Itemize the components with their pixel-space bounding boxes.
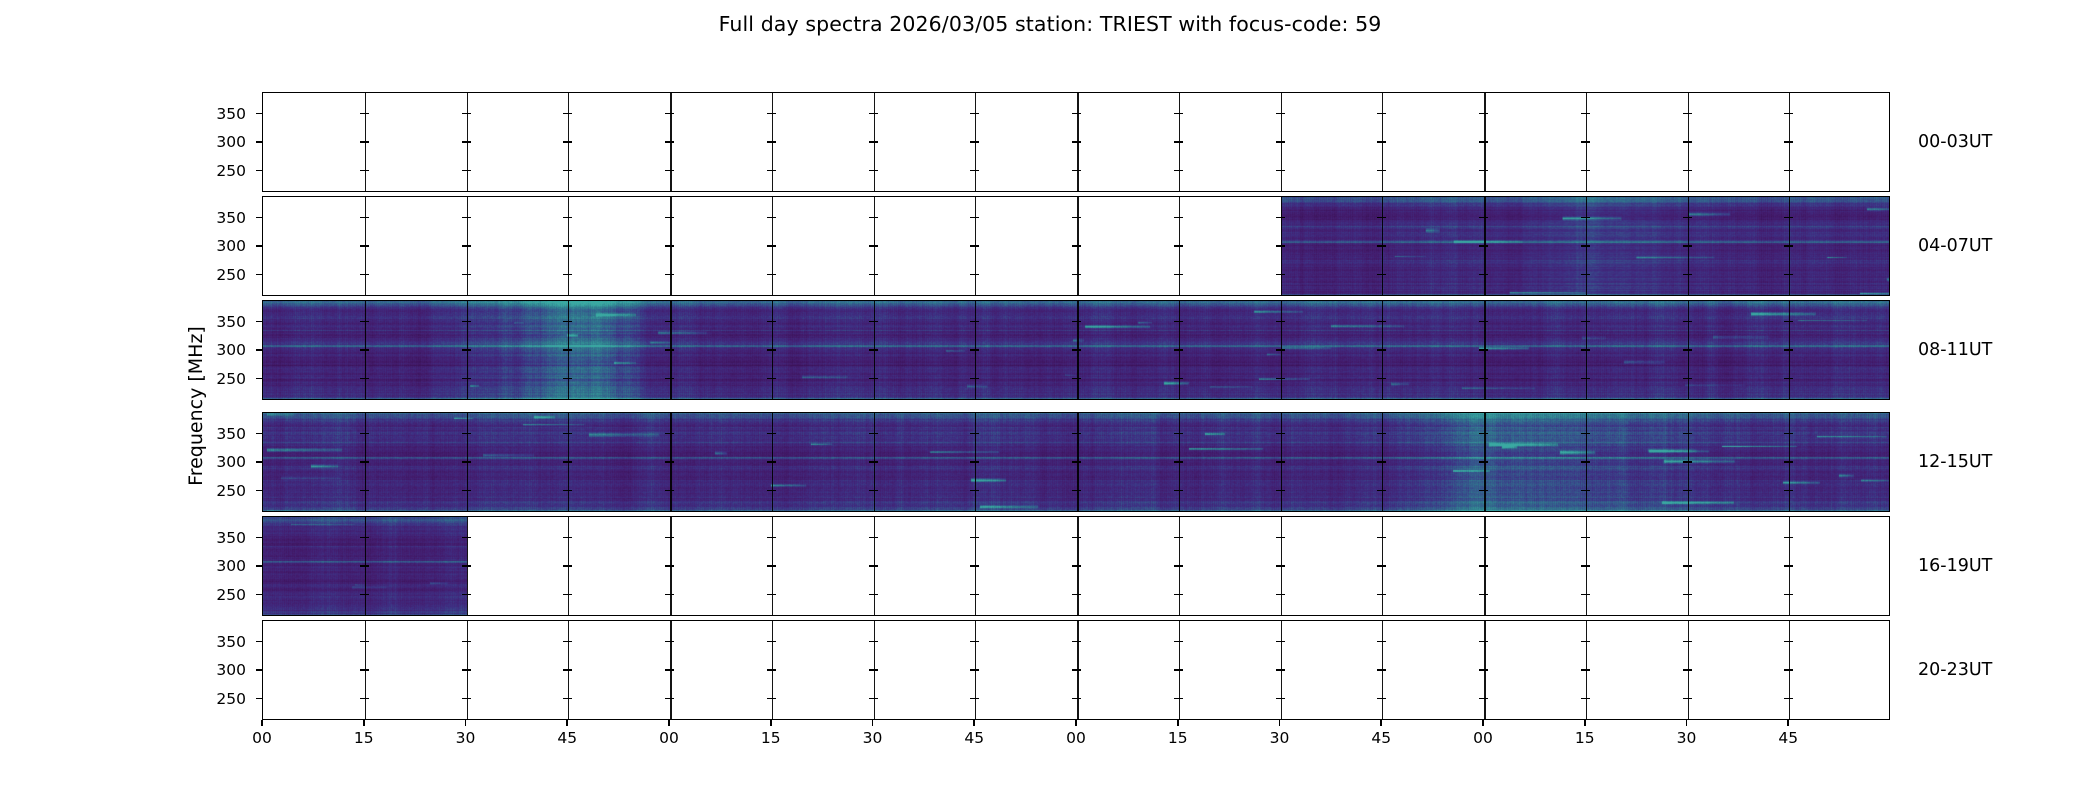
grid-tick-stub (869, 461, 878, 463)
grid-tick-stub (1784, 537, 1793, 539)
grid-tick-stub (1377, 641, 1386, 643)
grid-tick-stub (767, 245, 776, 247)
grid-tick-stub (462, 217, 471, 219)
x-tick-mark (465, 720, 467, 726)
y-tick-label: 300 (194, 557, 246, 575)
y-tick-mark (256, 141, 263, 143)
grid-tick-stub (462, 141, 471, 143)
grid-tick-stub (563, 141, 572, 143)
grid-tick-stub (1276, 490, 1285, 492)
grid-tick-stub (1784, 378, 1793, 380)
grid-tick-stub (1683, 490, 1692, 492)
grid-tick-stub (1683, 349, 1692, 351)
grid-tick-stub (360, 321, 369, 323)
grid-tick-stub (1174, 490, 1183, 492)
grid-tick-stub (1581, 113, 1590, 115)
grid-tick-stub (869, 245, 878, 247)
grid-tick-stub (1581, 537, 1590, 539)
row-label-16-19ut: 16-19UT (1918, 556, 1992, 576)
grid-tick-stub (1479, 490, 1488, 492)
grid-tick-stub (970, 378, 979, 380)
grid-tick-stub (360, 565, 369, 567)
grid-tick-stub (1683, 669, 1692, 671)
grid-tick-stub (1174, 565, 1183, 567)
grid-tick-stub (462, 461, 471, 463)
grid-tick-stub (462, 537, 471, 539)
grid-tick-stub (1072, 669, 1081, 671)
grid-tick-stub (1174, 641, 1183, 643)
grid-tick-stub (767, 669, 776, 671)
y-tick-mark (256, 274, 263, 276)
grid-tick-stub (665, 490, 674, 492)
grid-tick-stub (462, 594, 471, 596)
x-tick-label: 45 (1768, 729, 1808, 747)
grid-tick-stub (665, 245, 674, 247)
x-tick-label: 45 (547, 729, 587, 747)
grid-tick-stub (970, 490, 979, 492)
grid-tick-stub (1072, 170, 1081, 172)
grid-tick-stub (1784, 217, 1793, 219)
grid-tick-stub (462, 433, 471, 435)
grid-tick-stub (563, 641, 572, 643)
x-tick-label: 00 (1056, 729, 1096, 747)
y-tick-label: 350 (194, 633, 246, 651)
grid-tick-stub (665, 274, 674, 276)
grid-tick-stub (1276, 698, 1285, 700)
grid-tick-stub (1581, 141, 1590, 143)
grid-tick-stub (360, 537, 369, 539)
grid-tick-stub (1784, 245, 1793, 247)
grid-tick-stub (1683, 217, 1692, 219)
grid-tick-stub (462, 378, 471, 380)
grid-tick-stub (1683, 641, 1692, 643)
grid-tick-stub (1276, 669, 1285, 671)
grid-tick-stub (1683, 378, 1692, 380)
x-tick-mark (261, 720, 263, 726)
x-tick-mark (1075, 720, 1077, 726)
grid-tick-stub (1479, 378, 1488, 380)
grid-tick-stub (767, 274, 776, 276)
grid-tick-stub (1174, 321, 1183, 323)
grid-tick-stub (462, 349, 471, 351)
grid-tick-stub (1174, 461, 1183, 463)
grid-tick-stub (563, 537, 572, 539)
x-tick-mark (1686, 720, 1688, 726)
grid-tick-stub (665, 113, 674, 115)
grid-tick-stub (1683, 537, 1692, 539)
grid-tick-stub (869, 594, 878, 596)
grid-tick-stub (1174, 537, 1183, 539)
grid-tick-stub (1377, 698, 1386, 700)
grid-tick-stub (767, 349, 776, 351)
grid-tick-stub (1377, 461, 1386, 463)
x-tick-mark (973, 720, 975, 726)
grid-tick-stub (563, 565, 572, 567)
grid-tick-stub (1174, 433, 1183, 435)
grid-tick-stub (1784, 433, 1793, 435)
grid-tick-stub (767, 378, 776, 380)
grid-tick-stub (1276, 274, 1285, 276)
grid-tick-stub (360, 594, 369, 596)
grid-tick-stub (1581, 461, 1590, 463)
grid-tick-stub (1784, 321, 1793, 323)
grid-tick-stub (1784, 461, 1793, 463)
grid-tick-stub (1581, 490, 1590, 492)
grid-tick-stub (1683, 141, 1692, 143)
grid-tick-stub (970, 141, 979, 143)
grid-tick-stub (1072, 321, 1081, 323)
grid-tick-stub (1276, 217, 1285, 219)
grid-tick-stub (1581, 217, 1590, 219)
grid-tick-stub (970, 594, 979, 596)
x-tick-label: 15 (1565, 729, 1605, 747)
grid-tick-stub (1377, 490, 1386, 492)
grid-tick-stub (1377, 433, 1386, 435)
grid-tick-stub (563, 669, 572, 671)
grid-tick-stub (1377, 669, 1386, 671)
grid-tick-stub (665, 349, 674, 351)
grid-tick-stub (869, 141, 878, 143)
grid-tick-stub (1174, 217, 1183, 219)
grid-tick-stub (1174, 698, 1183, 700)
grid-tick-stub (462, 170, 471, 172)
grid-tick-stub (1072, 245, 1081, 247)
x-tick-label: 45 (1361, 729, 1401, 747)
grid-tick-stub (563, 274, 572, 276)
grid-tick-stub (462, 113, 471, 115)
y-tick-label: 350 (194, 425, 246, 443)
grid-tick-stub (970, 698, 979, 700)
x-tick-mark (668, 720, 670, 726)
grid-tick-stub (1479, 245, 1488, 247)
grid-tick-stub (360, 170, 369, 172)
grid-tick-stub (1377, 349, 1386, 351)
grid-tick-stub (1581, 669, 1590, 671)
x-tick-label: 30 (1260, 729, 1300, 747)
grid-tick-stub (1072, 217, 1081, 219)
grid-tick-stub (563, 321, 572, 323)
y-tick-label: 300 (194, 341, 246, 359)
grid-tick-stub (1377, 141, 1386, 143)
grid-tick-stub (563, 594, 572, 596)
grid-tick-stub (1072, 565, 1081, 567)
grid-tick-stub (1479, 141, 1488, 143)
grid-tick-stub (665, 641, 674, 643)
y-tick-mark (256, 321, 263, 323)
grid-tick-stub (360, 461, 369, 463)
grid-tick-stub (1479, 433, 1488, 435)
grid-tick-stub (1581, 565, 1590, 567)
grid-tick-stub (1072, 274, 1081, 276)
grid-tick-stub (1683, 433, 1692, 435)
grid-tick-stub (970, 565, 979, 567)
grid-tick-stub (1784, 113, 1793, 115)
grid-tick-stub (767, 641, 776, 643)
grid-tick-stub (970, 433, 979, 435)
x-tick-label: 30 (853, 729, 893, 747)
grid-tick-stub (462, 321, 471, 323)
grid-tick-stub (1581, 378, 1590, 380)
y-tick-label: 250 (194, 266, 246, 284)
grid-tick-stub (1174, 274, 1183, 276)
x-tick-mark (1177, 720, 1179, 726)
grid-tick-stub (1784, 274, 1793, 276)
y-tick-mark (256, 698, 263, 700)
grid-tick-stub (1479, 113, 1488, 115)
grid-tick-stub (1377, 594, 1386, 596)
grid-tick-stub (1377, 537, 1386, 539)
grid-tick-stub (1276, 378, 1285, 380)
grid-tick-stub (563, 170, 572, 172)
y-tick-mark (256, 565, 263, 567)
grid-tick-stub (462, 245, 471, 247)
grid-tick-stub (1683, 594, 1692, 596)
grid-tick-stub (563, 461, 572, 463)
grid-tick-stub (869, 565, 878, 567)
y-tick-mark (256, 349, 263, 351)
y-tick-mark (256, 113, 263, 115)
row-label-08-11ut: 08-11UT (1918, 340, 1992, 360)
spectrogram-figure: Full day spectra 2026/03/05 station: TRI… (0, 0, 2100, 800)
grid-tick-stub (970, 349, 979, 351)
x-tick-mark (770, 720, 772, 726)
grid-tick-stub (665, 170, 674, 172)
y-tick-label: 350 (194, 209, 246, 227)
grid-tick-stub (1479, 349, 1488, 351)
x-tick-mark (566, 720, 568, 726)
grid-tick-stub (1174, 349, 1183, 351)
x-tick-label: 45 (954, 729, 994, 747)
grid-tick-stub (665, 461, 674, 463)
grid-tick-stub (1276, 594, 1285, 596)
x-tick-label: 30 (446, 729, 486, 747)
grid-tick-stub (869, 698, 878, 700)
grid-tick-stub (360, 641, 369, 643)
x-tick-mark (1584, 720, 1586, 726)
grid-tick-stub (1072, 641, 1081, 643)
grid-tick-stub (1683, 274, 1692, 276)
grid-tick-stub (1581, 170, 1590, 172)
x-tick-label: 00 (649, 729, 689, 747)
grid-tick-stub (360, 349, 369, 351)
grid-tick-stub (869, 349, 878, 351)
grid-tick-stub (665, 594, 674, 596)
x-tick-label: 15 (751, 729, 791, 747)
grid-tick-stub (970, 669, 979, 671)
grid-tick-stub (767, 698, 776, 700)
y-tick-mark (256, 490, 263, 492)
grid-tick-stub (767, 141, 776, 143)
grid-tick-stub (360, 490, 369, 492)
grid-tick-stub (1581, 594, 1590, 596)
grid-tick-stub (1072, 141, 1081, 143)
grid-tick-stub (1683, 170, 1692, 172)
grid-tick-stub (1276, 113, 1285, 115)
grid-tick-stub (563, 113, 572, 115)
y-tick-label: 300 (194, 237, 246, 255)
row-label-04-07ut: 04-07UT (1918, 236, 1992, 256)
grid-tick-stub (360, 378, 369, 380)
grid-tick-stub (1276, 641, 1285, 643)
grid-tick-stub (1276, 461, 1285, 463)
grid-tick-stub (563, 698, 572, 700)
grid-tick-stub (1479, 461, 1488, 463)
grid-tick-stub (869, 321, 878, 323)
grid-tick-stub (1072, 490, 1081, 492)
grid-tick-stub (869, 433, 878, 435)
x-tick-label: 00 (1463, 729, 1503, 747)
y-tick-label: 250 (194, 586, 246, 604)
grid-tick-stub (1377, 245, 1386, 247)
grid-tick-stub (970, 641, 979, 643)
grid-tick-stub (767, 321, 776, 323)
grid-tick-stub (360, 217, 369, 219)
grid-tick-stub (970, 274, 979, 276)
grid-tick-stub (1683, 321, 1692, 323)
grid-tick-stub (869, 641, 878, 643)
grid-tick-stub (462, 669, 471, 671)
grid-tick-stub (1072, 113, 1081, 115)
grid-tick-stub (1479, 641, 1488, 643)
grid-tick-stub (767, 594, 776, 596)
grid-tick-stub (563, 378, 572, 380)
grid-tick-stub (462, 698, 471, 700)
y-tick-label: 300 (194, 133, 246, 151)
x-tick-label: 15 (344, 729, 384, 747)
grid-tick-stub (767, 537, 776, 539)
grid-tick-stub (869, 274, 878, 276)
grid-tick-stub (360, 245, 369, 247)
x-tick-mark (1279, 720, 1281, 726)
grid-tick-stub (767, 490, 776, 492)
grid-tick-stub (1581, 274, 1590, 276)
grid-tick-stub (869, 217, 878, 219)
grid-tick-stub (1072, 349, 1081, 351)
grid-tick-stub (462, 274, 471, 276)
grid-tick-stub (1784, 565, 1793, 567)
x-tick-mark (1380, 720, 1382, 726)
grid-tick-stub (360, 113, 369, 115)
y-tick-mark (256, 461, 263, 463)
grid-tick-stub (360, 698, 369, 700)
grid-tick-stub (563, 433, 572, 435)
grid-tick-stub (767, 170, 776, 172)
row-label-20-23ut: 20-23UT (1918, 660, 1992, 680)
grid-tick-stub (1581, 641, 1590, 643)
grid-tick-stub (1072, 461, 1081, 463)
grid-tick-stub (1683, 113, 1692, 115)
y-tick-label: 300 (194, 453, 246, 471)
y-tick-label: 350 (194, 105, 246, 123)
grid-tick-stub (1276, 433, 1285, 435)
grid-tick-stub (1479, 170, 1488, 172)
x-tick-mark (1482, 720, 1484, 726)
grid-tick-stub (1276, 321, 1285, 323)
y-tick-mark (256, 641, 263, 643)
y-tick-mark (256, 378, 263, 380)
grid-tick-stub (1479, 669, 1488, 671)
grid-tick-stub (1479, 274, 1488, 276)
grid-tick-stub (1377, 113, 1386, 115)
x-tick-label: 15 (1158, 729, 1198, 747)
y-tick-mark (256, 217, 263, 219)
grid-tick-stub (1683, 461, 1692, 463)
grid-tick-stub (1174, 245, 1183, 247)
grid-tick-stub (360, 433, 369, 435)
y-tick-label: 350 (194, 313, 246, 331)
grid-tick-stub (1784, 641, 1793, 643)
grid-tick-stub (1174, 170, 1183, 172)
grid-tick-stub (563, 490, 572, 492)
grid-tick-stub (970, 321, 979, 323)
grid-tick-stub (1377, 565, 1386, 567)
grid-tick-stub (665, 321, 674, 323)
grid-tick-stub (1784, 141, 1793, 143)
grid-tick-stub (1581, 433, 1590, 435)
grid-tick-stub (1479, 698, 1488, 700)
y-tick-mark (256, 245, 263, 247)
grid-tick-stub (1479, 217, 1488, 219)
grid-tick-stub (665, 698, 674, 700)
grid-tick-stub (665, 433, 674, 435)
grid-tick-stub (360, 669, 369, 671)
grid-tick-stub (462, 641, 471, 643)
grid-tick-stub (563, 245, 572, 247)
grid-tick-stub (360, 141, 369, 143)
grid-tick-stub (1072, 537, 1081, 539)
grid-tick-stub (1072, 378, 1081, 380)
y-tick-mark (256, 594, 263, 596)
grid-tick-stub (1377, 378, 1386, 380)
grid-tick-stub (970, 245, 979, 247)
x-tick-label: 30 (1667, 729, 1707, 747)
grid-tick-stub (970, 170, 979, 172)
figure-title: Full day spectra 2026/03/05 station: TRI… (0, 12, 2100, 36)
grid-tick-stub (767, 433, 776, 435)
grid-tick-stub (1479, 321, 1488, 323)
grid-tick-stub (869, 170, 878, 172)
grid-tick-stub (1276, 245, 1285, 247)
grid-tick-stub (1581, 245, 1590, 247)
grid-tick-stub (1276, 141, 1285, 143)
y-tick-mark (256, 669, 263, 671)
x-tick-mark (1787, 720, 1789, 726)
grid-tick-stub (563, 349, 572, 351)
grid-tick-stub (563, 217, 572, 219)
grid-tick-stub (970, 113, 979, 115)
grid-tick-stub (1377, 274, 1386, 276)
grid-tick-stub (1683, 245, 1692, 247)
grid-tick-stub (360, 274, 369, 276)
grid-tick-stub (1581, 321, 1590, 323)
grid-tick-stub (665, 669, 674, 671)
grid-tick-stub (1784, 490, 1793, 492)
grid-tick-stub (1072, 433, 1081, 435)
grid-tick-stub (1072, 594, 1081, 596)
grid-tick-stub (665, 378, 674, 380)
grid-tick-stub (1784, 594, 1793, 596)
grid-tick-stub (1174, 669, 1183, 671)
grid-tick-stub (665, 217, 674, 219)
grid-tick-stub (1276, 565, 1285, 567)
grid-tick-stub (462, 565, 471, 567)
grid-tick-stub (1581, 349, 1590, 351)
grid-tick-stub (970, 461, 979, 463)
grid-tick-stub (665, 537, 674, 539)
grid-tick-stub (1784, 349, 1793, 351)
grid-tick-stub (1479, 537, 1488, 539)
grid-tick-stub (1377, 217, 1386, 219)
